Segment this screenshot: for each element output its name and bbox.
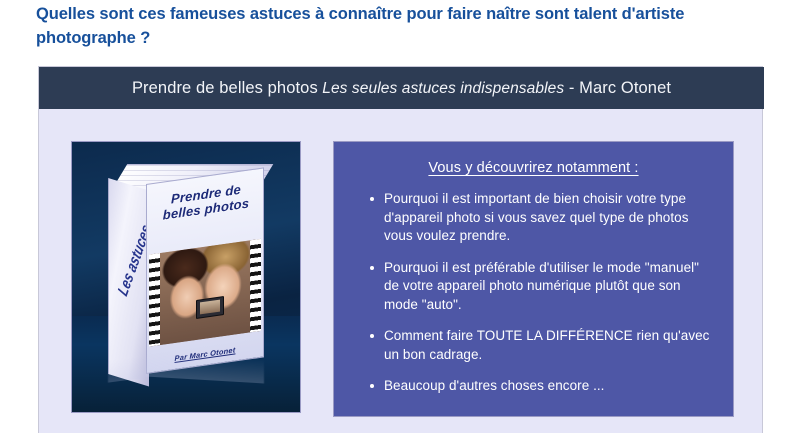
benefits-heading: Vous y découvrirez notamment : <box>348 160 719 176</box>
book-3d-box: Les astuces Prendre de belles photos Par… <box>108 166 268 384</box>
product-card: Prendre de belles photos Les seules astu… <box>38 66 763 433</box>
benefits-list: Pourquoi il est important de bien choisi… <box>348 190 719 396</box>
list-item: Beaucoup d'autres choses encore ... <box>370 377 713 396</box>
camera-icon <box>196 296 224 319</box>
list-item-text: Beaucoup d'autres choses encore ... <box>384 378 604 393</box>
bullet-dot <box>370 197 374 201</box>
bullet-dot <box>370 334 374 338</box>
product-title-main: Prendre de belles photos <box>132 79 318 97</box>
bullet-dot <box>370 266 374 270</box>
book-front-title: Prendre de belles photos <box>151 179 261 224</box>
page-headline: Quelles sont ces fameuses astuces à conn… <box>36 2 756 50</box>
book-cover-photo <box>149 239 261 347</box>
promo-page: Quelles sont ces fameuses astuces à conn… <box>0 0 800 433</box>
book-byline: Par Marc Otonet <box>147 342 263 367</box>
benefits-panel: Vous y découvrirez notamment : Pourquoi … <box>333 141 734 417</box>
product-subtitle-italic: Les seules astuces indispensables <box>322 80 564 97</box>
book-cover-image: Les astuces Prendre de belles photos Par… <box>71 141 301 413</box>
list-item: Comment faire TOUTE LA DIFFÉRENCE rien q… <box>370 327 713 364</box>
two-women-photo <box>160 240 250 345</box>
list-item-text: Comment faire TOUTE LA DIFFÉRENCE rien q… <box>384 328 709 362</box>
book-spine-face: Les astuces <box>108 178 149 387</box>
list-item: Pourquoi il est préférable d'utiliser le… <box>370 259 713 315</box>
bullet-dot <box>370 384 374 388</box>
book-front-face: Prendre de belles photos Par Marc Otonet <box>146 167 264 374</box>
list-item-text: Pourquoi il est important de bien choisi… <box>384 191 689 243</box>
list-item-text: Pourquoi il est préférable d'utiliser le… <box>384 260 699 312</box>
product-title-bar: Prendre de belles photos Les seules astu… <box>39 67 764 109</box>
product-title-text: Prendre de belles photos Les seules astu… <box>132 79 671 98</box>
list-item: Pourquoi il est important de bien choisi… <box>370 190 713 246</box>
product-title-author: - Marc Otonet <box>564 79 671 97</box>
book-spine-label: Les astuces <box>108 182 149 337</box>
